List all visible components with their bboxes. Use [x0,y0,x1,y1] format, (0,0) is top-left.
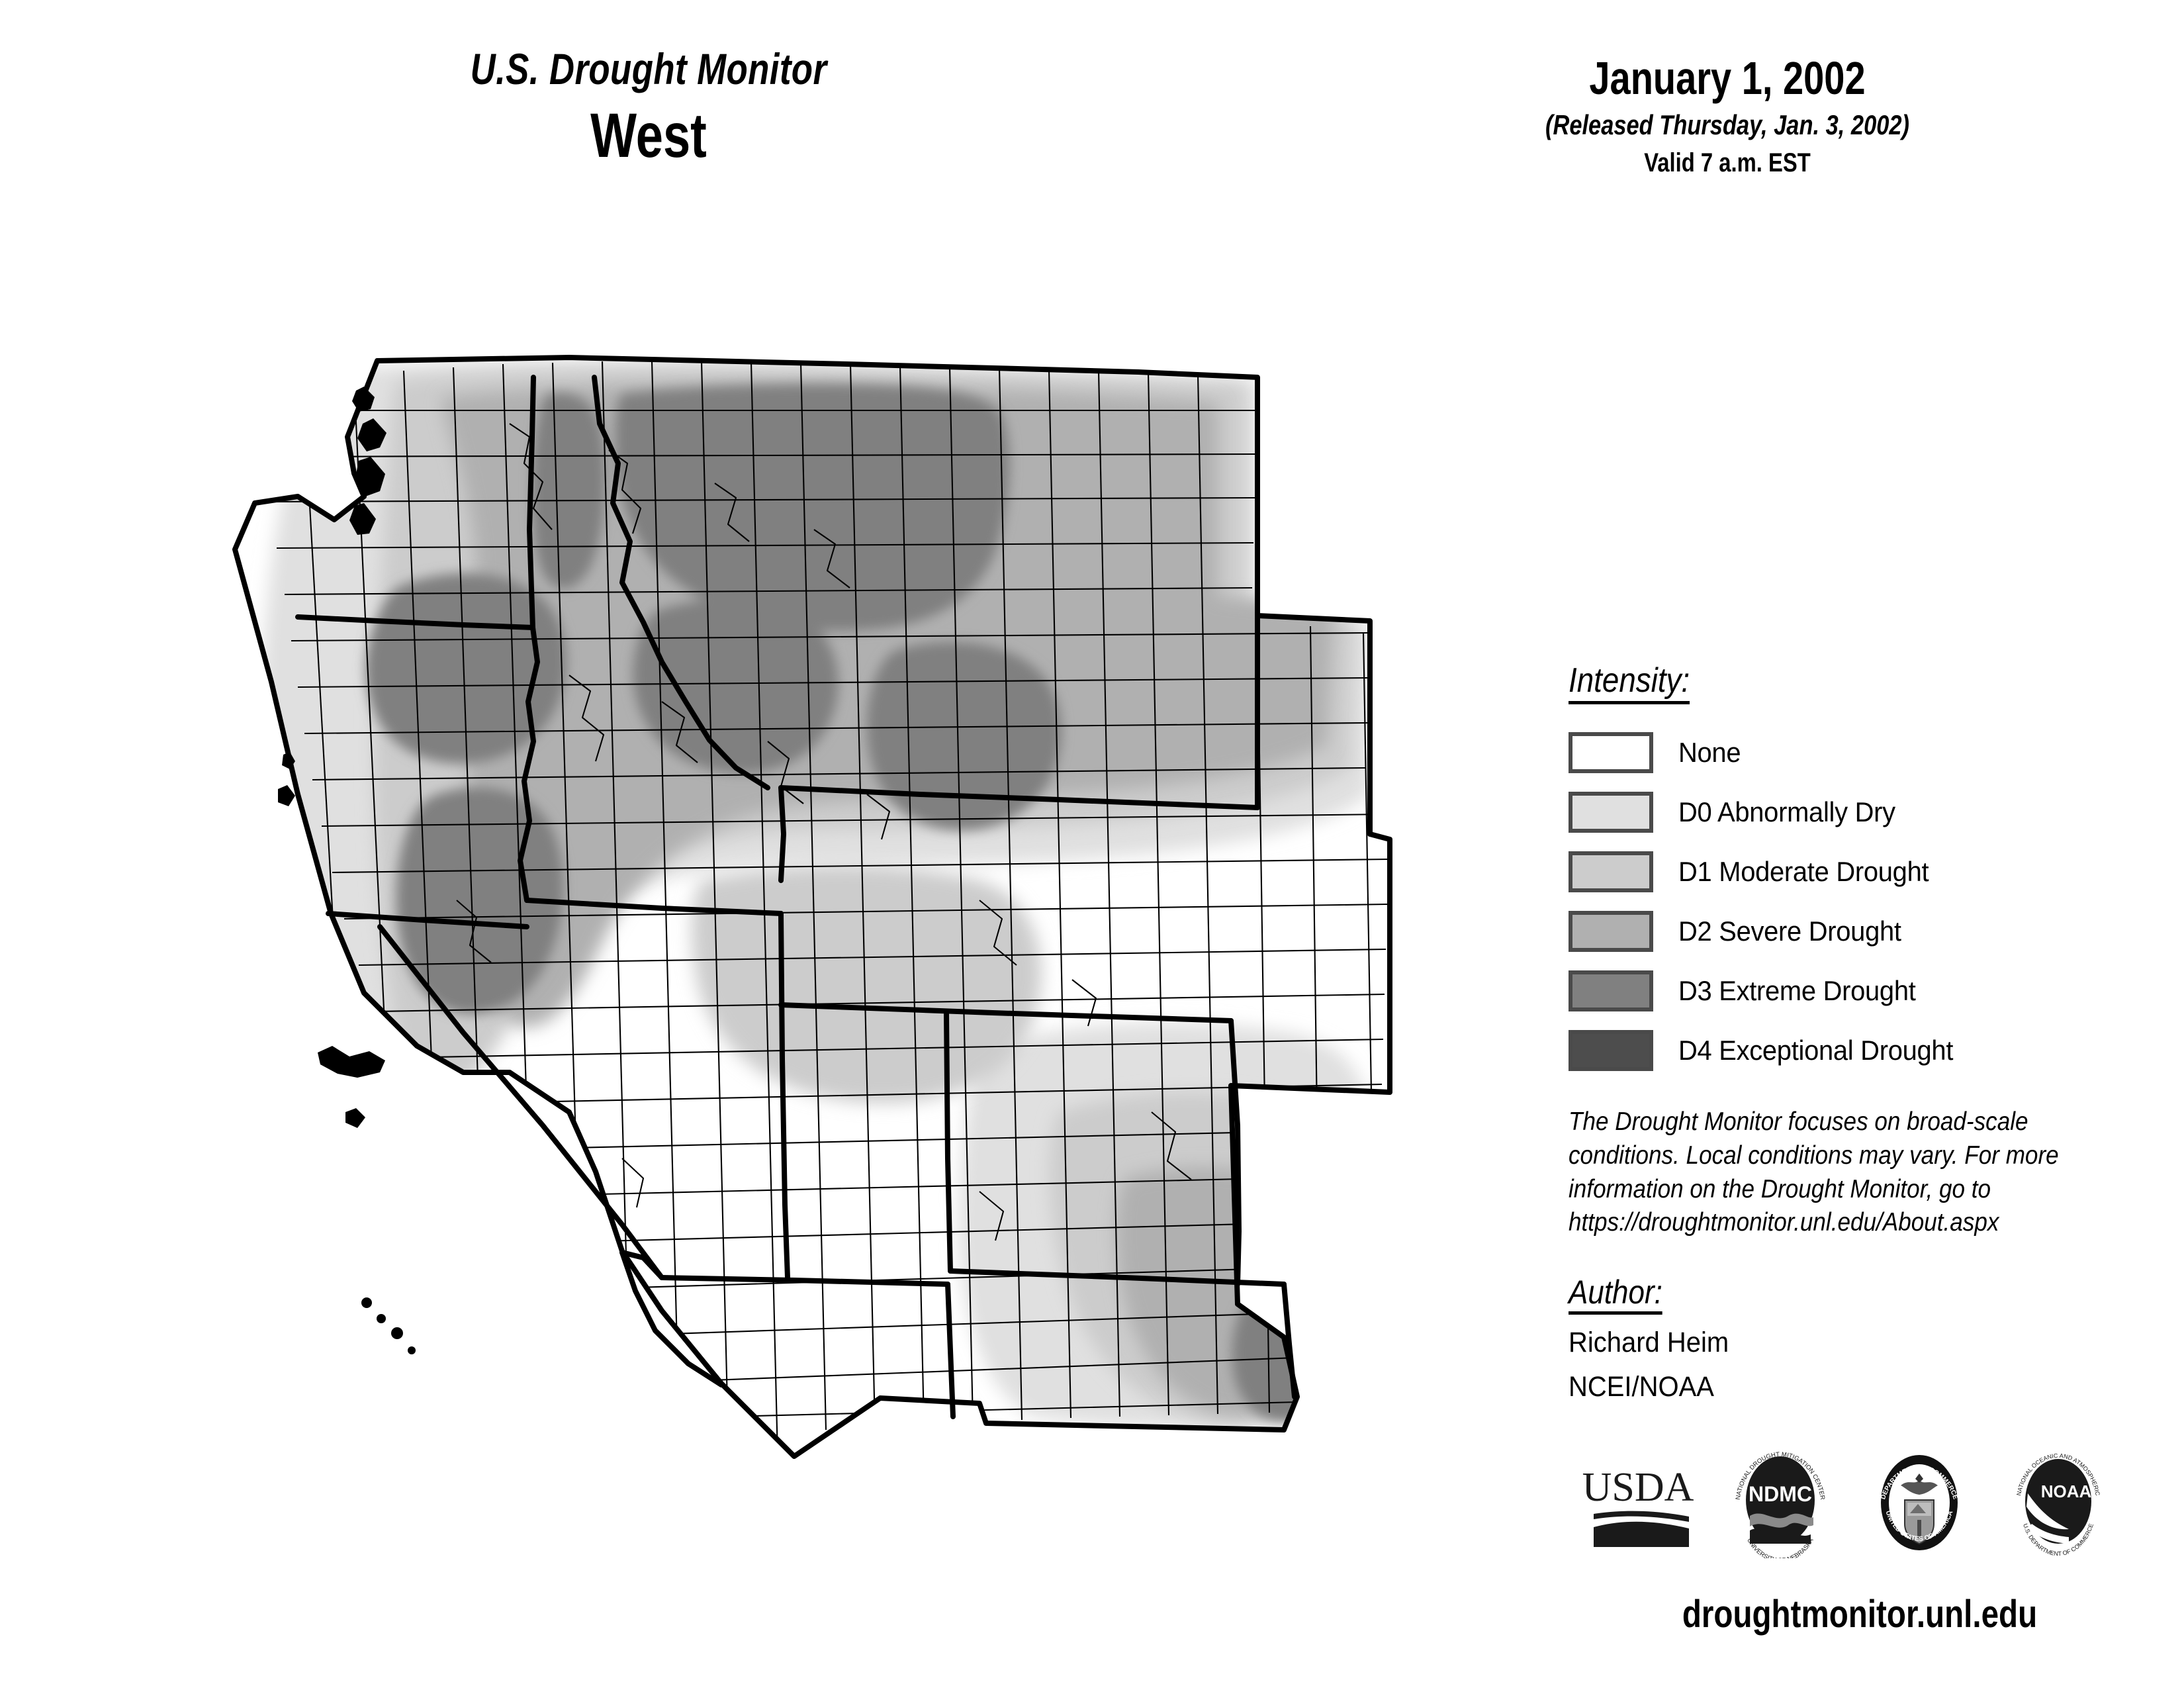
legend-swatch-d0 [1569,792,1653,833]
legend-label-none: None [1678,737,1741,769]
legend-swatch-d2 [1569,911,1653,952]
map-date: January 1, 2002 [1468,53,1987,104]
legend-swatch-d1 [1569,851,1653,892]
ndmc-logo-text: NDMC [1749,1482,1812,1506]
ndmc-logo: NDMC NATIONAL DROUGHT MITIGATION CENTER … [1727,1447,1833,1558]
author-name: Richard Heim [1569,1327,2110,1359]
legend-label-d2: D2 Severe Drought [1678,915,1901,947]
logo-row: USDA NDMC NATIONAL DROUGHT MITIGATION CE… [1582,1440,2111,1566]
legend-disclaimer-line-1: The Drought Monitor focuses on broad-sca… [1569,1105,2140,1139]
footer-url[interactable]: droughtmonitor.unl.edu [1621,1592,2099,1636]
legend-disclaimer: The Drought Monitor focuses on broad-sca… [1569,1105,2140,1240]
legend-swatch-d3 [1569,970,1653,1011]
legend-label-d0: D0 Abnormally Dry [1678,796,1895,828]
legend-heading: Intensity: [1569,662,1690,704]
usda-logo: USDA [1582,1453,1694,1552]
region-title: West [313,101,984,171]
header-title-block: U.S. Drought Monitor West [218,46,1079,171]
header-date-block: January 1, 2002 (Released Thursday, Jan.… [1403,53,2052,178]
noaa-logo: NOAA NATIONAL OCEANIC AND ATMOSPHERIC U.… [2005,1447,2111,1558]
legend-item-d4[interactable]: D4 Exceptional Drought [1569,1021,2151,1080]
legend-panel: Intensity: None D0 Abnormally Dry D1 Mod… [1569,662,2151,1403]
legend-disclaimer-line-3: information on the Drought Monitor, go t… [1569,1173,2140,1207]
legend-item-d1[interactable]: D1 Moderate Drought [1569,842,2151,902]
drought-map[interactable] [199,331,1416,1628]
legend-item-d3[interactable]: D3 Extreme Drought [1569,961,2151,1021]
legend-swatch-none [1569,732,1653,773]
noaa-logo-text: NOAA [2041,1481,2092,1501]
legend-label-d3: D3 Extreme Drought [1678,975,1916,1007]
valid-time-note: Valid 7 a.m. EST [1461,148,1993,178]
author-heading: Author: [1569,1274,1662,1315]
legend-rows: None D0 Abnormally Dry D1 Moderate Droug… [1569,723,2151,1080]
commerce-seal-logo: DEPARTMENT OF COMMERCE UNITED STATES OF … [1866,1447,1972,1558]
legend-label-d4: D4 Exceptional Drought [1678,1035,1953,1066]
legend-item-d2[interactable]: D2 Severe Drought [1569,902,2151,961]
drought-map-svg[interactable] [199,331,1416,1628]
legend-disclaimer-line-2: conditions. Local conditions may vary. F… [1569,1139,2140,1173]
author-affiliation: NCEI/NOAA [1569,1371,2110,1403]
release-date-note: (Released Thursday, Jan. 3, 2002) [1461,109,1993,141]
legend-item-none[interactable]: None [1569,723,2151,782]
legend-item-d0[interactable]: D0 Abnormally Dry [1569,782,2151,842]
page-title: U.S. Drought Monitor [304,46,993,92]
usda-logo-text: USDA [1582,1465,1694,1510]
legend-label-d1: D1 Moderate Drought [1678,856,1929,888]
legend-disclaimer-url[interactable]: https://droughtmonitor.unl.edu/About.asp… [1569,1206,2140,1240]
legend-swatch-d4 [1569,1030,1653,1071]
